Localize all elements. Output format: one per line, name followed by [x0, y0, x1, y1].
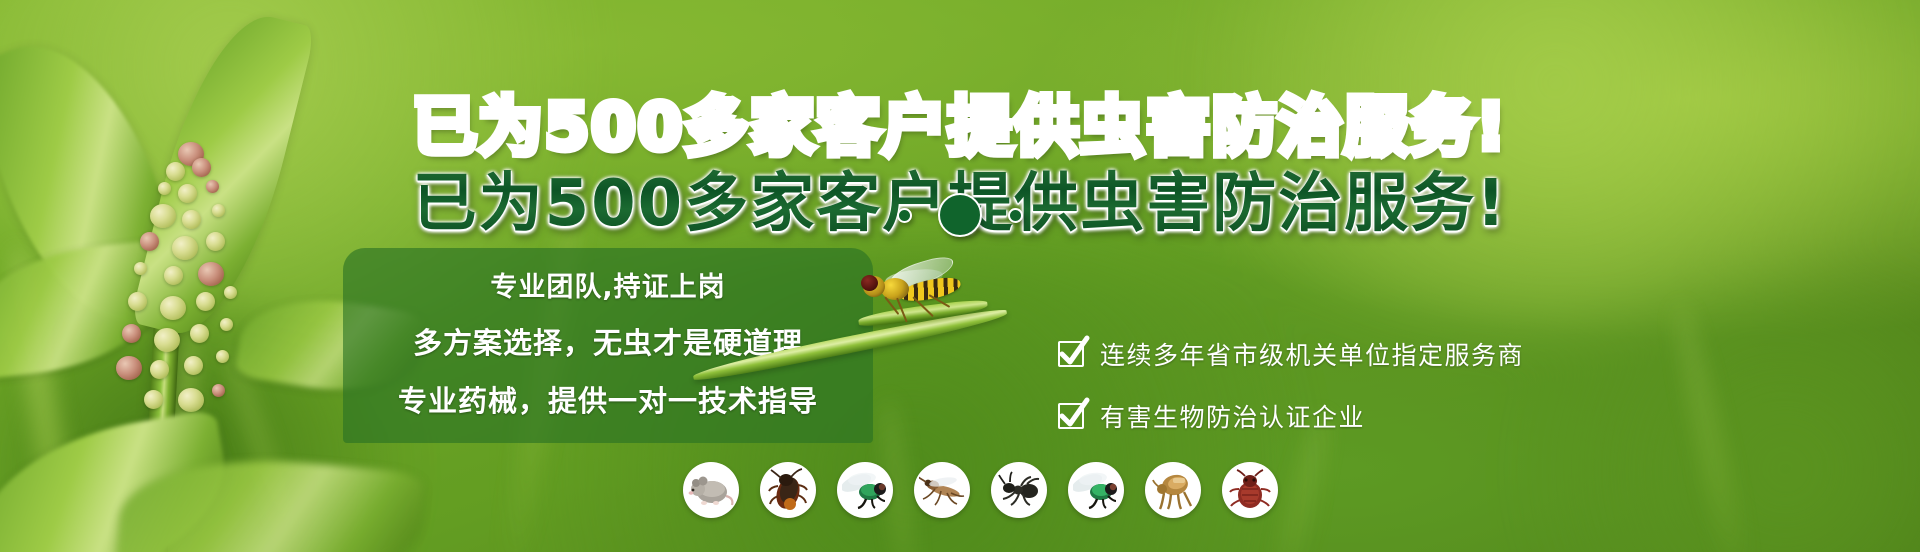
list-item: 连续多年省市级机关单位指定服务商	[1058, 336, 1524, 372]
bedbug-icon	[1222, 462, 1278, 518]
decorative-dot-row	[0, 193, 1920, 237]
mosquito-icon	[914, 462, 970, 518]
large-dot-center	[938, 193, 982, 237]
list-item: 有害生物防治认证企业	[1058, 398, 1524, 434]
small-dot-left	[897, 208, 912, 223]
hoverfly-icon	[855, 266, 965, 324]
fly-icon	[837, 462, 893, 518]
pest-type-icon-row	[683, 462, 1278, 518]
checkbox-checked-icon	[1058, 341, 1084, 367]
rodent-icon	[683, 462, 739, 518]
pest-control-hero-banner: 已为500多家客户提供虫害防治服务! 已为500多家客户提供虫害防治服务! 专业…	[0, 0, 1920, 552]
blowfly-icon	[1068, 462, 1124, 518]
certification-checklist: 连续多年省市级机关单位指定服务商 有害生物防治认证企业	[1058, 336, 1524, 434]
cockroach-icon	[760, 462, 816, 518]
headline-wrapper: 已为500多家客户提供虫害防治服务! 已为500多家客户提供虫害防治服务!	[0, 76, 1920, 154]
list-item-label: 连续多年省市级机关单位指定服务商	[1100, 336, 1524, 372]
list-item-label: 有害生物防治认证企业	[1100, 398, 1365, 434]
small-dot-right	[1008, 208, 1023, 223]
checkbox-checked-icon	[1058, 403, 1084, 429]
ant-icon	[991, 462, 1047, 518]
flea-icon	[1145, 462, 1201, 518]
